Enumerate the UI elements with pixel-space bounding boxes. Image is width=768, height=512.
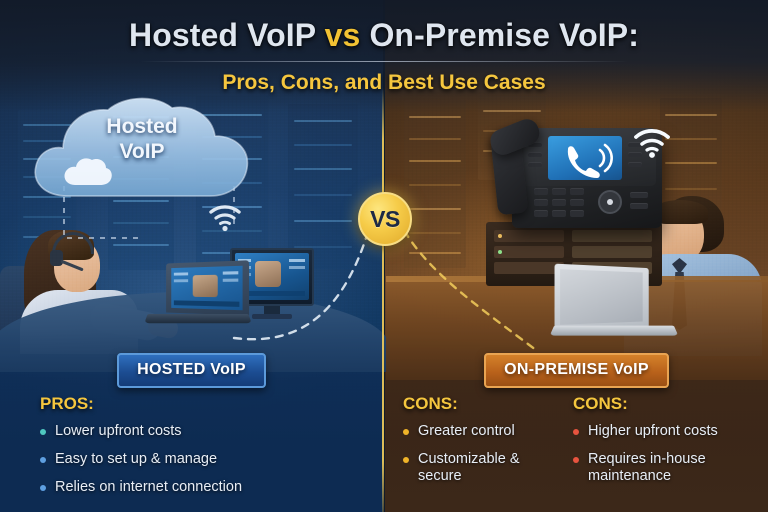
right-column2-heading: CONS: (573, 394, 748, 414)
right-cons-column-1: CONS: Greater control Customizable & sec… (403, 394, 563, 496)
page-title: Hosted VoIP vs On-Premise VoIP: (0, 17, 768, 54)
right-bullet-list-1: Greater control Customizable & secure (403, 423, 563, 485)
hosted-voip-badge: HOSTED VoIP (117, 353, 266, 388)
infographic-canvas: Hosted VoIP (0, 0, 768, 512)
right-cons-column-2: CONS: Higher upfront costs Requires in-h… (573, 394, 748, 496)
hosted-voip-badge-wrap: HOSTED VoIP (0, 353, 383, 388)
onpremise-voip-badge-wrap: ON-PREMISE VoIP (385, 353, 768, 388)
left-column-heading: PROS: (40, 394, 370, 414)
phone-screen (548, 136, 622, 180)
center-divider (382, 88, 384, 512)
list-item: Relies on internet connection (40, 479, 370, 496)
phone-handset-icon (568, 145, 612, 178)
list-item: Higher upfront costs (573, 423, 748, 440)
list-item: Easy to set up & manage (40, 451, 370, 468)
cloud-label-line2: VoIP (26, 139, 258, 164)
cloud-label: Hosted VoIP (26, 114, 258, 164)
title-divider-rule (139, 61, 629, 62)
vs-badge: VS (358, 192, 412, 246)
title-vs-accent: vs (325, 17, 361, 53)
page-subtitle: Pros, Cons, and Best Use Cases (0, 71, 768, 95)
right-connector-arc (386, 200, 566, 360)
right-column1-heading: CONS: (403, 394, 563, 414)
list-item: Customizable & secure (403, 451, 563, 485)
header: Hosted VoIP vs On-Premise VoIP: Pros, Co… (0, 0, 768, 95)
hosted-voip-cloud: Hosted VoIP (26, 96, 258, 204)
title-part-hosted: Hosted VoIP (129, 17, 316, 53)
onpremise-voip-badge: ON-PREMISE VoIP (484, 353, 669, 388)
left-bullet-list: Lower upfront costs Easy to set up & man… (40, 423, 370, 496)
cloud-label-line1: Hosted (26, 114, 258, 139)
vs-badge-label: VS (370, 206, 400, 233)
left-pros-column: PROS: Lower upfront costs Easy to set up… (40, 394, 370, 507)
wifi-icon (630, 124, 674, 159)
list-item: Greater control (403, 423, 563, 440)
right-bullet-list-2: Higher upfront costs Requires in-house m… (573, 423, 748, 485)
list-item: Lower upfront costs (40, 423, 370, 440)
right-laptop (556, 266, 688, 342)
list-item: Requires in-house maintenance (573, 451, 748, 485)
title-part-onpremise: On-Premise VoIP: (369, 17, 639, 53)
